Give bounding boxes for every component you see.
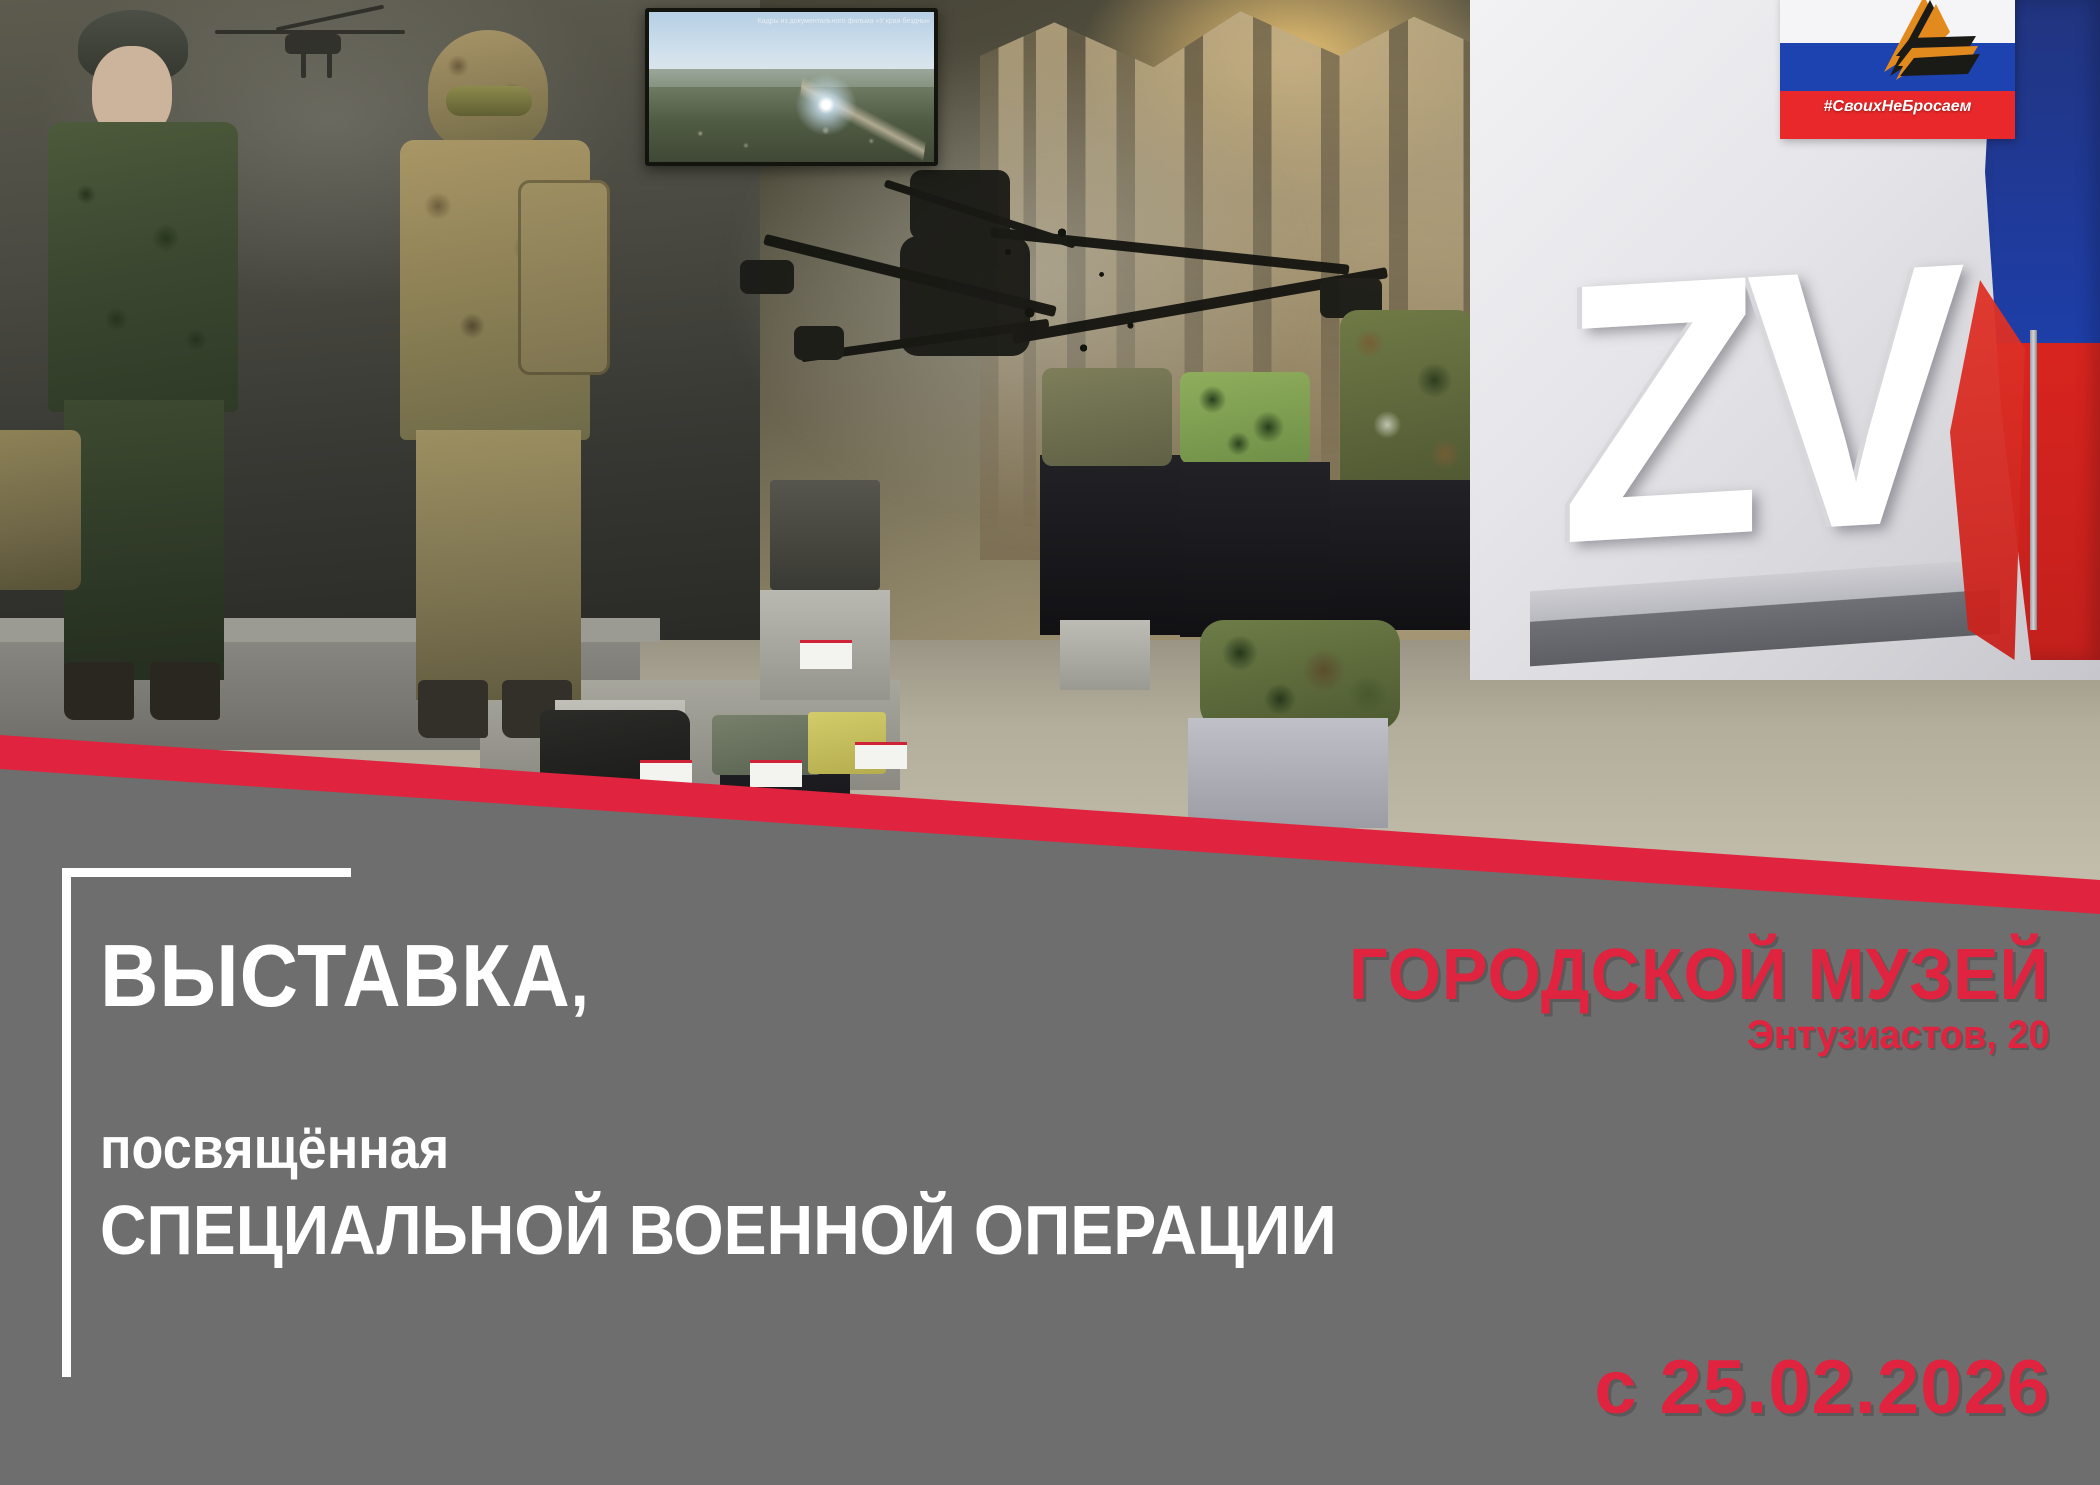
debris-specks bbox=[990, 220, 1170, 380]
camo-bag-green bbox=[1180, 372, 1310, 464]
pedestal-grey-4 bbox=[1060, 620, 1150, 690]
page-title-text: ВЫСТАВКА bbox=[100, 926, 571, 1025]
flag-hashtag-text: #СвоихНеБросаем bbox=[1780, 98, 2015, 116]
venue-address: Энтузиастов, 20 bbox=[1349, 1012, 2050, 1058]
poster-root: Кадры из документального фильма «У края … bbox=[0, 0, 2100, 1485]
monitor-caption: Кадры из документального фильма «У края … bbox=[758, 18, 930, 25]
flag-pole bbox=[2030, 330, 2037, 630]
goggles-icon bbox=[446, 86, 532, 116]
zv-letters-text: ZV bbox=[1560, 222, 1980, 627]
pedestal-dark-3 bbox=[1040, 455, 1190, 635]
mannequin-multicam-uniform bbox=[390, 30, 600, 710]
subtitle-line-1: посвящённая bbox=[100, 1120, 449, 1178]
monitor-lens-flare bbox=[791, 70, 861, 140]
boot-right bbox=[150, 662, 220, 720]
mannequin-jacket bbox=[48, 122, 238, 412]
st-george-ribbon-icon bbox=[1866, 0, 1986, 104]
exhibit-label-4 bbox=[855, 742, 907, 769]
large-camo-rucksack bbox=[1340, 310, 1475, 495]
rucksack-floor-left bbox=[0, 430, 81, 590]
camouflage-net-bundle bbox=[1200, 620, 1400, 730]
video-monitor: Кадры из документального фильма «У края … bbox=[645, 8, 938, 166]
page-title: ВЫСТАВКА, bbox=[100, 932, 590, 1026]
mannequin-trousers bbox=[64, 400, 224, 680]
venue-name: ГОРОДСКОЙ МУЗЕЙ bbox=[1349, 938, 2050, 1012]
page-title-comma: , bbox=[571, 943, 590, 1021]
olive-shoulder-bag bbox=[1042, 368, 1172, 466]
event-date: с 25.02.2026 bbox=[1594, 1348, 2050, 1428]
mannequin-trousers bbox=[416, 430, 581, 700]
pedestal-grey-3 bbox=[1188, 718, 1388, 828]
exhibition-photo: Кадры из документального фильма «У края … bbox=[0, 0, 2100, 880]
exhibit-label-1 bbox=[800, 640, 852, 669]
zv-sculpture: ZV bbox=[1560, 255, 1980, 655]
venue-block: ГОРОДСКОЙ МУЗЕЙ Энтузиастов, 20 bbox=[1312, 938, 2050, 1058]
boot-left bbox=[418, 680, 488, 738]
tactical-backpack bbox=[518, 180, 610, 375]
exhibit-label-3 bbox=[750, 760, 802, 787]
russian-flag-hashtag: #СвоихНеБросаем bbox=[1780, 0, 2015, 139]
subtitle-line-2: СПЕЦИАЛЬНОЙ ВОЕННОЙ ОПЕРАЦИИ bbox=[100, 1195, 1337, 1265]
boot-left bbox=[64, 662, 134, 720]
pedestal-dark-5 bbox=[1330, 480, 1480, 630]
pedestal-dark-4 bbox=[1180, 462, 1330, 637]
mannequin-green-uniform bbox=[30, 10, 260, 710]
pedestal-dark-1 bbox=[770, 480, 880, 590]
